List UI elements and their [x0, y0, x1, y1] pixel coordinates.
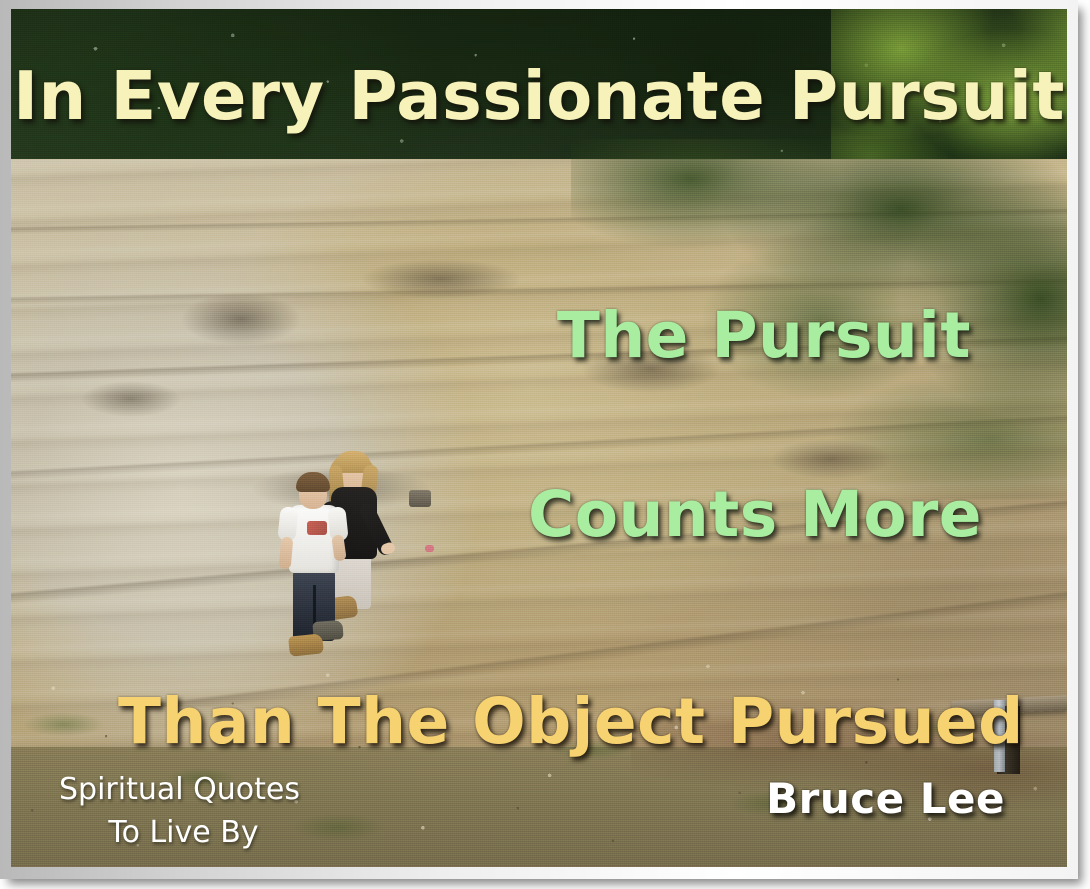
quote-author: Bruce Lee [766, 774, 1005, 823]
quote-line-3: Counts More [528, 478, 982, 551]
quote-line-2: The Pursuit [557, 299, 971, 372]
background-photograph: In Every Passionate Pursuit The Pursuit … [11, 9, 1067, 867]
quote-line-1: In Every Passionate Pursuit [11, 57, 1067, 135]
branding-line-2: To Live By [59, 812, 300, 855]
quote-text-overlay: In Every Passionate Pursuit The Pursuit … [11, 9, 1067, 867]
site-branding: Spiritual Quotes To Live By [59, 769, 300, 854]
branding-line-1: Spiritual Quotes [59, 769, 300, 812]
photo-frame: In Every Passionate Pursuit The Pursuit … [0, 0, 1078, 879]
quote-image-canvas: In Every Passionate Pursuit The Pursuit … [0, 0, 1090, 889]
quote-line-4: Than The Object Pursued [118, 685, 1024, 758]
